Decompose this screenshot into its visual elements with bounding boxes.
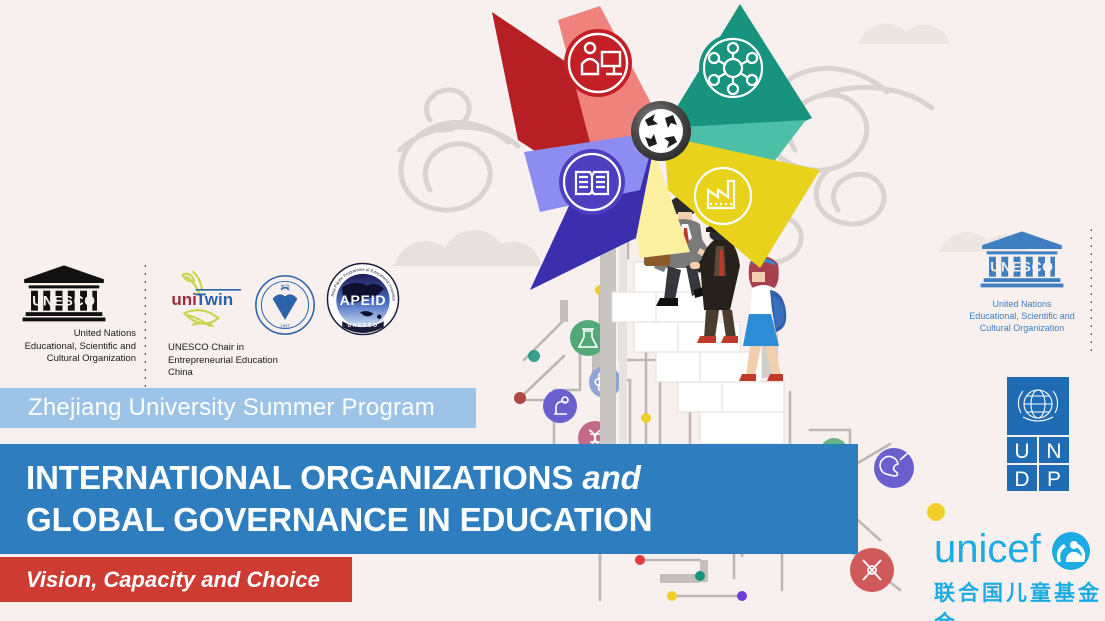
- atom-icon: [589, 366, 621, 398]
- unicef-chinese-text: 联合国儿童基金会: [934, 577, 1105, 621]
- undp-letter-u: U: [1014, 440, 1029, 463]
- pinwheel-blade-knowledge: [530, 136, 656, 290]
- unesco-logo-right: UNESCO United Nations Educational, Scien…: [952, 228, 1092, 334]
- presentation-slide: UNESCO United Nations Educational, Scien…: [0, 0, 1105, 621]
- apeid-wordmark: APEID: [340, 292, 387, 308]
- title-line-1-italic: and: [582, 459, 640, 496]
- pinwheel-blade-network: [664, 4, 812, 172]
- flask-icon: [570, 320, 606, 356]
- unesco-temple-icon-right: UNESCO: [976, 228, 1068, 290]
- microscope-icon: [543, 389, 577, 423]
- zju-year: 1897: [280, 323, 290, 328]
- dotted-divider-left: [144, 262, 146, 397]
- unitwin-twin-text: Twin: [196, 290, 233, 309]
- unesco-chair-block: uni Twin 求是 1897: [168, 262, 400, 380]
- pinwheel-graphic: [492, 4, 820, 290]
- presenter-icon: [569, 34, 627, 92]
- undp-letter-d: D: [1014, 468, 1029, 491]
- unitwin-logo: uni Twin: [168, 268, 246, 336]
- unesco-right-caption-1: United Nations: [952, 298, 1092, 310]
- unesco-temple-icon: UNESCO: [18, 262, 110, 324]
- apeid-logo: APEID Asia-Pacific Programme of Educatio…: [326, 262, 400, 336]
- cloud-shape-icon: [391, 24, 1028, 266]
- chair-caption-3: China: [168, 367, 286, 380]
- unesco-right-caption-3: Cultural Organization: [952, 322, 1092, 334]
- svg-text:UNESCO: UNESCO: [990, 259, 1054, 274]
- molecule-icon: [850, 548, 894, 592]
- undp-logo: U N D P: [1007, 377, 1069, 491]
- program-banner: Zhejiang University Summer Program: [0, 388, 476, 428]
- unesco-right-caption-2: Educational, Scientific and: [952, 310, 1092, 322]
- title-banner: INTERNATIONAL ORGANIZATIONS and GLOBAL G…: [0, 444, 858, 554]
- network-icon: [704, 39, 762, 97]
- wind-swirls-icon: [400, 68, 932, 262]
- svg-text:UNESCO: UNESCO: [32, 293, 96, 308]
- figure-schoolgirl: [739, 256, 786, 381]
- zhejiang-university-seal: 求是 1897: [254, 274, 316, 336]
- unesco-logo-left: UNESCO United Nations Educational, Scien…: [18, 262, 136, 366]
- dotted-divider-right: [1090, 226, 1092, 354]
- open-book-icon: [564, 154, 620, 210]
- factory-icon: [695, 168, 751, 224]
- pinwheel-hub: [631, 101, 691, 161]
- figure-graduate: [690, 220, 743, 343]
- title-line-1: INTERNATIONAL ORGANIZATIONS and: [26, 457, 641, 499]
- undp-letter-p: P: [1047, 468, 1061, 491]
- svg-text:求是: 求是: [280, 284, 290, 291]
- unesco-left-caption-1: United Nations: [18, 328, 136, 341]
- palette-icon: [874, 448, 914, 488]
- pinwheel-blade-teacher: [492, 12, 664, 196]
- unicef-wordmark: unicef: [934, 528, 1094, 574]
- title-line-2: GLOBAL GOVERNANCE IN EDUCATION: [26, 499, 652, 541]
- unesco-left-caption-2: Educational, Scientific and: [18, 341, 136, 354]
- subtitle-banner: Vision, Capacity and Choice: [0, 557, 352, 602]
- unicef-logo: unicef 联合国儿童基金会: [934, 528, 1105, 621]
- partner-logos-left: UNESCO United Nations Educational, Scien…: [18, 262, 400, 397]
- unicef-text: unicef: [934, 528, 1042, 571]
- figure-businessman: [644, 196, 710, 307]
- subtitle-banner-text: Vision, Capacity and Choice: [26, 567, 320, 593]
- unesco-left-caption-3: Cultural Organization: [18, 353, 136, 366]
- program-banner-text: Zhejiang University Summer Program: [28, 394, 435, 422]
- apeid-unesco-text: UNESCO: [347, 323, 378, 329]
- chair-caption-2: Entrepreneurial Education: [168, 355, 286, 368]
- title-line-1-main: INTERNATIONAL ORGANIZATIONS: [26, 459, 582, 496]
- chair-caption-1: UNESCO Chair in: [168, 342, 286, 355]
- undp-letter-n: N: [1046, 440, 1061, 463]
- unitwin-uni-text: uni: [171, 290, 197, 309]
- white-staircase: [600, 229, 784, 449]
- pinwheel-blade-industry: [664, 136, 820, 268]
